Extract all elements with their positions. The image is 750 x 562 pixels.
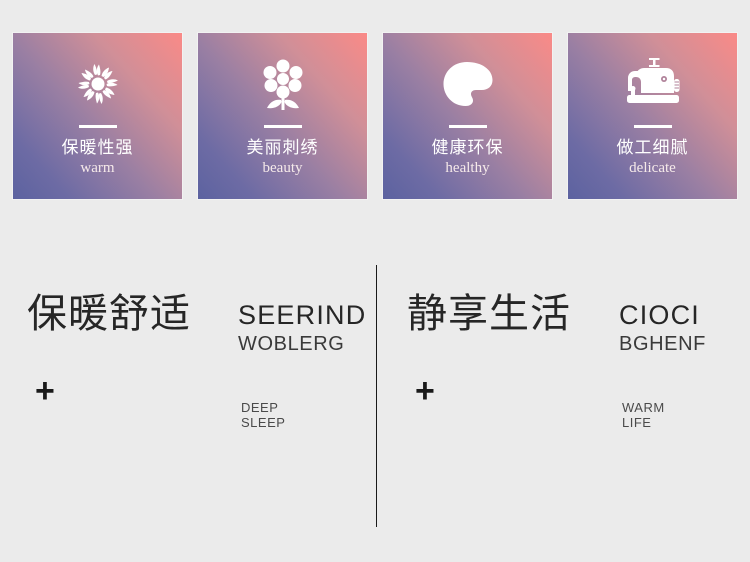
card-title-cn: 保暖性强 bbox=[62, 137, 134, 158]
card-title-cn: 美丽刺绣 bbox=[247, 137, 319, 158]
sewing-machine-icon bbox=[624, 53, 682, 115]
card-divider bbox=[264, 125, 302, 128]
brand-tagline: WARM LIFE bbox=[622, 400, 665, 430]
card-title-en: healthy bbox=[445, 159, 489, 178]
feature-card-strip: 保暖性强 warm 美丽刺绣 beauty bbox=[0, 0, 750, 212]
brand-latin-sub: BGHENF bbox=[619, 332, 706, 357]
brand-column-right: 静享生活 + CIOCI BGHENF WARM LIFE bbox=[376, 212, 750, 562]
brand-latin-main: CIOCI bbox=[619, 300, 706, 330]
feature-card-warm[interactable]: 保暖性强 warm bbox=[12, 32, 183, 200]
feature-card-delicate[interactable]: 做工细腻 delicate bbox=[567, 32, 738, 200]
brand-section: 保暖舒适 + SEERIND WOBLERG DEEP SLEEP 静享生活 +… bbox=[0, 212, 750, 562]
card-title-en: beauty bbox=[263, 159, 303, 178]
brand-tagline-line1: WARM bbox=[622, 400, 665, 415]
card-divider bbox=[79, 125, 117, 128]
brand-latin-main: SEERIND bbox=[238, 300, 366, 330]
brand-headline: 保暖舒适 bbox=[27, 292, 191, 336]
brand-column-left: 保暖舒适 + SEERIND WOBLERG DEEP SLEEP bbox=[0, 212, 375, 562]
card-title-en: delicate bbox=[629, 159, 676, 178]
brand-tagline-line2: SLEEP bbox=[241, 415, 285, 430]
palette-icon bbox=[442, 53, 494, 115]
card-title-cn: 健康环保 bbox=[432, 137, 504, 158]
sun-icon bbox=[73, 53, 123, 115]
card-title-en: warm bbox=[80, 159, 114, 178]
brand-tagline: DEEP SLEEP bbox=[241, 400, 285, 430]
brand-latin-block: SEERIND WOBLERG bbox=[238, 300, 366, 357]
card-title-cn: 做工细腻 bbox=[617, 137, 689, 158]
plus-symbol: + bbox=[415, 374, 435, 408]
brand-tagline-line1: DEEP bbox=[241, 400, 285, 415]
brand-headline: 静享生活 bbox=[407, 292, 571, 336]
feature-card-healthy[interactable]: 健康环保 healthy bbox=[382, 32, 553, 200]
feature-card-beauty[interactable]: 美丽刺绣 beauty bbox=[197, 32, 368, 200]
brand-latin-block: CIOCI BGHENF bbox=[619, 300, 706, 357]
card-divider bbox=[449, 125, 487, 128]
brand-latin-sub: WOBLERG bbox=[238, 332, 366, 357]
flower-icon bbox=[260, 53, 306, 115]
brand-tagline-line2: LIFE bbox=[622, 415, 665, 430]
card-divider bbox=[634, 125, 672, 128]
plus-symbol: + bbox=[35, 374, 55, 408]
